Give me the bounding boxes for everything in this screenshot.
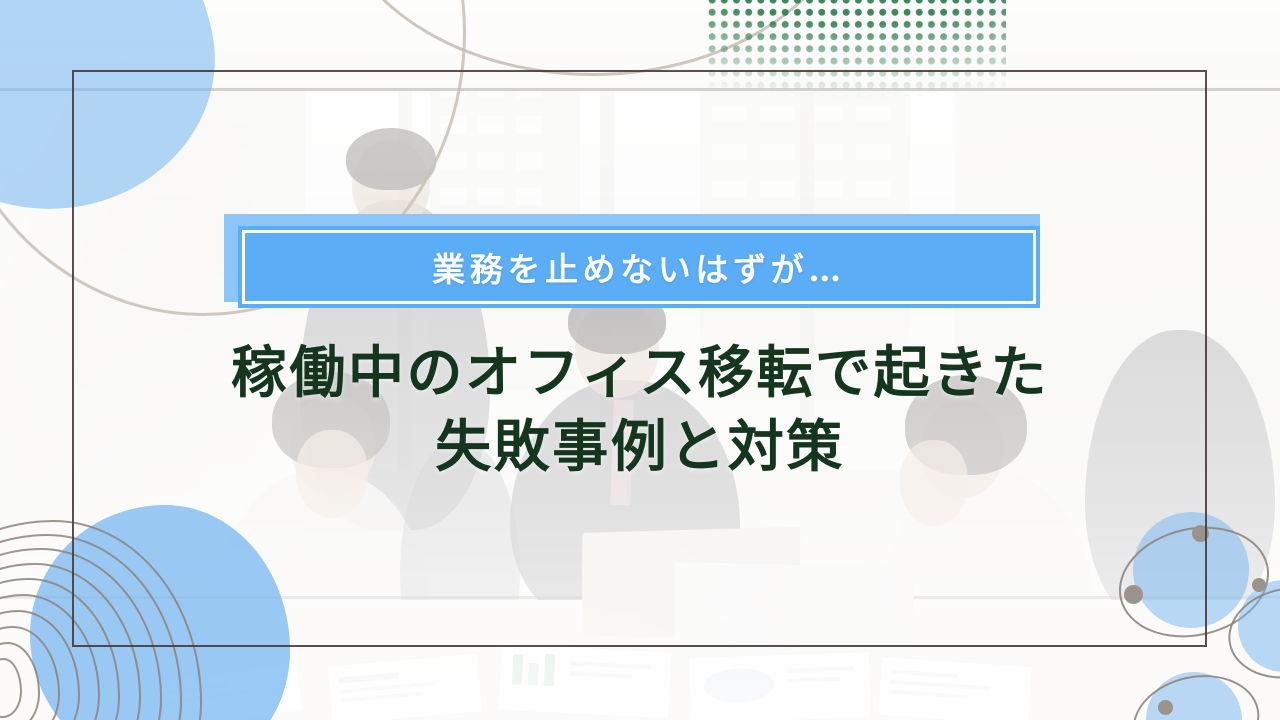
title-line-2: 失敗事例と対策 — [0, 410, 1280, 484]
subtitle-banner: 業務を止めないはずが… — [224, 214, 1040, 310]
contour-rings-icon — [0, 520, 210, 720]
banner-canvas: 業務を止めないはずが… 稼働中のオフィス移転で起きた 失敗事例と対策 — [0, 0, 1280, 720]
green-dot-grid-icon — [706, 0, 1006, 150]
subtitle-banner-body: 業務を止めないはずが… — [238, 226, 1040, 308]
title-line-1: 稼働中のオフィス移転で起きた — [0, 336, 1280, 410]
subtitle-label: 業務を止めないはずが… — [432, 243, 846, 291]
page-title: 稼働中のオフィス移転で起きた 失敗事例と対策 — [0, 336, 1280, 485]
